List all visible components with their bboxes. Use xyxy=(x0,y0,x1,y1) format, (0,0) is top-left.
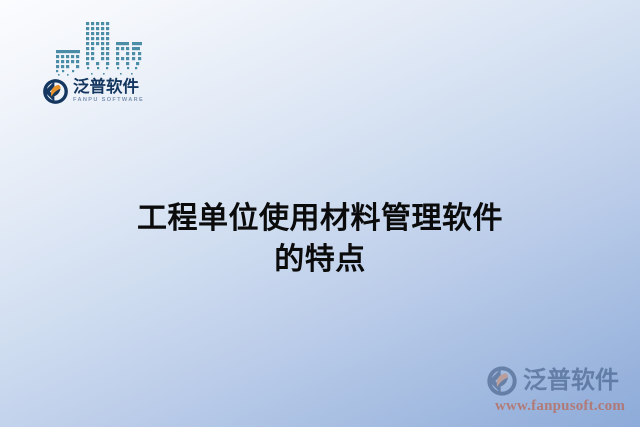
page-title-line-1: 工程单位使用材料管理软件 xyxy=(0,198,640,239)
fanpu-swoosh-logo-icon xyxy=(42,78,69,105)
watermark-url: www.fanpusoft.com xyxy=(486,398,634,415)
brand-name-en: FANPU SOFTWARE xyxy=(73,98,144,104)
brand-block: 泛普软件 FANPU SOFTWARE xyxy=(40,18,160,118)
brand-name-cn: 泛普软件 xyxy=(73,79,144,96)
watermark: 泛普软件 www.fanpusoft.com xyxy=(486,365,634,419)
dotted-city-skyline-icon xyxy=(56,18,144,78)
page-title-line-2: 的特点 xyxy=(0,239,640,280)
watermark-brand-name: 泛普软件 xyxy=(523,369,619,393)
slide-canvas: 泛普软件 FANPU SOFTWARE 工程单位使用材料管理软件 的特点 泛普软… xyxy=(0,0,640,427)
page-title: 工程单位使用材料管理软件 的特点 xyxy=(0,198,640,281)
fanpu-logo-text: 泛普软件 FANPU SOFTWARE xyxy=(73,79,144,103)
watermark-logo-lockup: 泛普软件 xyxy=(486,365,634,397)
fanpu-swoosh-logo-icon xyxy=(486,365,518,397)
fanpu-logo-lockup: 泛普软件 FANPU SOFTWARE xyxy=(42,78,144,105)
